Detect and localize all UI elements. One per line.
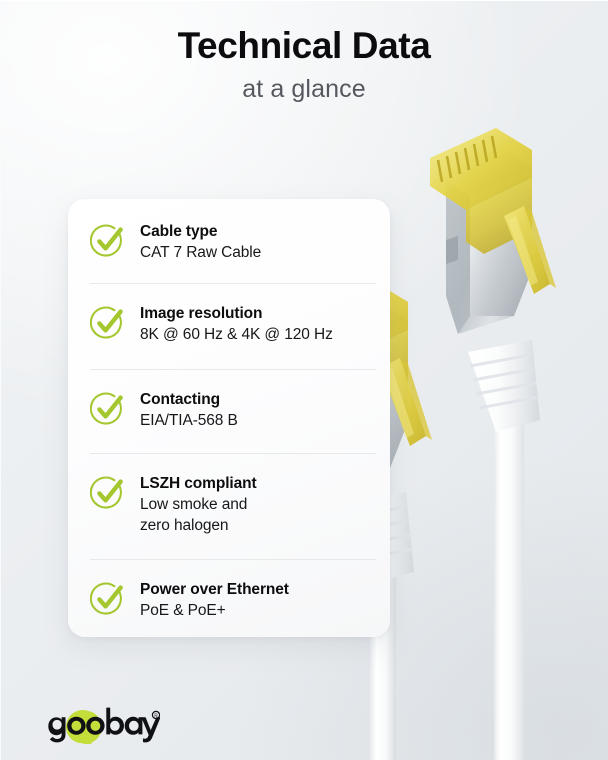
check-circle-icon (90, 223, 126, 259)
spec-list: Cable type CAT 7 Raw Cable Image resolut… (68, 199, 390, 637)
page-title: Technical Data (0, 24, 608, 68)
check-circle-icon (90, 305, 126, 341)
check-circle-icon (90, 581, 126, 617)
list-item-subtitle: CAT 7 Raw Cable (140, 242, 374, 263)
list-item-text: Image resolution 8K @ 60 Hz & 4K @ 120 H… (140, 303, 374, 345)
list-item: Contacting EIA/TIA-568 B (68, 369, 390, 453)
check-circle-icon (90, 475, 126, 511)
list-item-subtitle: EIA/TIA-568 B (140, 410, 374, 431)
registered-trademark-icon: R (152, 711, 159, 719)
list-item-title: LSZH compliant (140, 474, 374, 494)
list-item-title: Contacting (140, 390, 374, 410)
list-item-text: Power over Ethernet PoE & PoE+ (140, 579, 374, 621)
list-item: Cable type CAT 7 Raw Cable (68, 205, 390, 283)
infographic-canvas: Technical Data at a glance (0, 0, 608, 760)
divider (90, 283, 376, 284)
list-item-subtitle: 8K @ 60 Hz & 4K @ 120 Hz (140, 324, 374, 345)
divider (90, 453, 376, 454)
svg-text:R: R (154, 713, 158, 719)
spec-card: Cable type CAT 7 Raw Cable Image resolut… (68, 199, 390, 637)
list-item: LSZH compliant Low smoke and zero haloge… (68, 453, 390, 559)
list-item-text: Cable type CAT 7 Raw Cable (140, 221, 374, 263)
list-item-title: Image resolution (140, 304, 374, 324)
list-item-subtitle: PoE & PoE+ (140, 600, 374, 621)
divider (90, 369, 376, 370)
list-item-title: Power over Ethernet (140, 580, 374, 600)
check-circle-icon (90, 391, 126, 427)
page-subtitle: at a glance (0, 74, 608, 104)
list-item: Image resolution 8K @ 60 Hz & 4K @ 120 H… (68, 283, 390, 369)
list-item-text: Contacting EIA/TIA-568 B (140, 389, 374, 431)
list-item-title: Cable type (140, 222, 374, 242)
header: Technical Data at a glance (0, 24, 608, 104)
list-item: Power over Ethernet PoE & PoE+ (68, 559, 390, 639)
list-item-text: LSZH compliant Low smoke and zero haloge… (140, 473, 374, 536)
brand-logo: R (44, 700, 160, 744)
list-item-subtitle: Low smoke and zero halogen (140, 494, 374, 536)
divider (90, 559, 376, 560)
